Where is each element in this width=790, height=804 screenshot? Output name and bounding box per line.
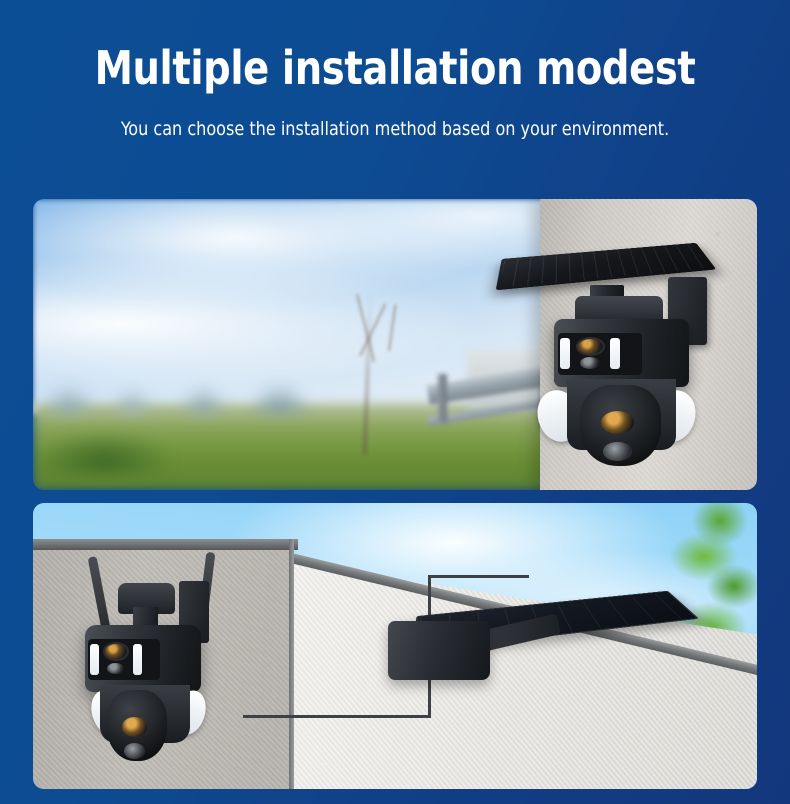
page-title: Multiple installation modest <box>28 44 763 92</box>
camera-body <box>85 625 202 692</box>
foreground-bush <box>40 411 199 475</box>
led-strip-left <box>90 644 99 675</box>
ptz-camera-eye <box>122 717 146 737</box>
led-strip-right <box>610 338 620 369</box>
lens-plate <box>558 333 642 375</box>
secondary-sensor <box>107 663 124 675</box>
hero-header: Multiple installation modest You can cho… <box>0 0 790 140</box>
photo-2-scene <box>33 503 757 789</box>
secondary-sensor <box>580 357 600 369</box>
wall-mounted-camera <box>62 552 250 775</box>
camera-body <box>554 319 690 387</box>
led-strip-right <box>133 644 142 675</box>
page-subtitle: You can choose the installation method b… <box>24 118 767 140</box>
separate-solar-panel-assembly <box>388 583 707 697</box>
lens-plate <box>88 639 160 680</box>
extension-cord-top <box>428 575 529 578</box>
solar-panel-bracket <box>388 621 490 680</box>
railing-post <box>438 374 447 423</box>
photo-integrated-installation: Integrated installation <box>33 199 757 490</box>
main-lens <box>578 339 603 354</box>
roof-coping-left <box>33 539 298 550</box>
main-lens <box>105 644 127 659</box>
photo-1-scene <box>33 199 757 490</box>
ptz-ir-sensor <box>124 743 145 759</box>
integrated-solar-camera <box>496 222 757 484</box>
wall-corner-edge <box>289 539 294 789</box>
distant-treeline <box>33 368 482 415</box>
led-strip-left <box>560 338 570 369</box>
extension-cord-horizontal <box>243 715 431 718</box>
photo-separate-mounting: Standard 3m extension cord Separate moun… <box>33 503 757 789</box>
ptz-ir-sensor <box>603 442 632 460</box>
